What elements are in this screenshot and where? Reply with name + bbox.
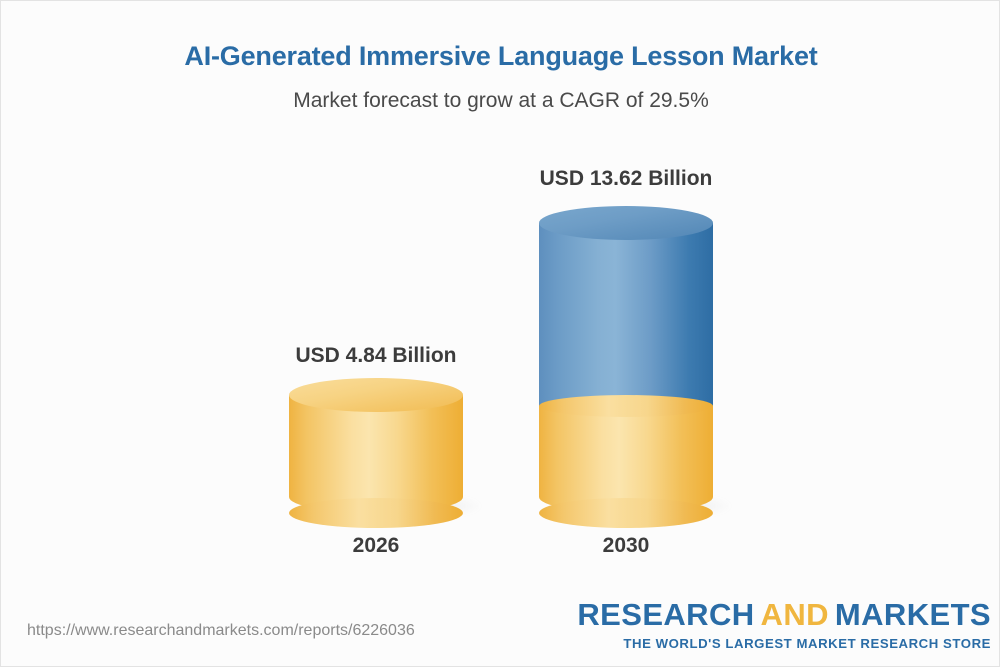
cylinder-top-2030: [539, 206, 713, 240]
plot-area: USD 4.84 Billion 2026 USD 13.62 Billion: [1, 1, 1000, 601]
chart-canvas: AI-Generated Immersive Language Lesson M…: [0, 0, 1000, 667]
bar-value-label-2026: USD 4.84 Billion: [226, 344, 526, 368]
cylinder-2030: [539, 223, 713, 513]
cylinder-base-cap-2026: [289, 498, 463, 528]
cylinder-body-2026: [289, 395, 463, 513]
cylinder-segment-gold-2030: [539, 406, 713, 513]
brand-tagline: THE WORLD'S LARGEST MARKET RESEARCH STOR…: [577, 637, 991, 650]
cylinder-2026: [289, 395, 463, 513]
bar-value-label-2030: USD 13.62 Billion: [476, 167, 776, 191]
cylinder-body-2030: [539, 223, 713, 513]
report-url[interactable]: https://www.researchandmarkets.com/repor…: [27, 622, 415, 640]
brand-word-research: RESEARCH: [577, 597, 754, 632]
brand-word-and: AND: [761, 597, 829, 632]
brand-logo[interactable]: RESEARCHANDMARKETS THE WORLD'S LARGEST M…: [577, 599, 991, 650]
brand-word-markets: MARKETS: [835, 597, 991, 632]
cylinder-segment-blue-2030: [539, 223, 713, 406]
cylinder-segment-gold-2026: [289, 395, 463, 513]
cylinder-top-2026: [289, 378, 463, 412]
cylinder-seam-2030: [539, 395, 713, 417]
category-label-2030: 2030: [476, 534, 776, 558]
brand-name: RESEARCHANDMARKETS: [577, 599, 991, 630]
cylinder-base-cap-2030: [539, 498, 713, 528]
